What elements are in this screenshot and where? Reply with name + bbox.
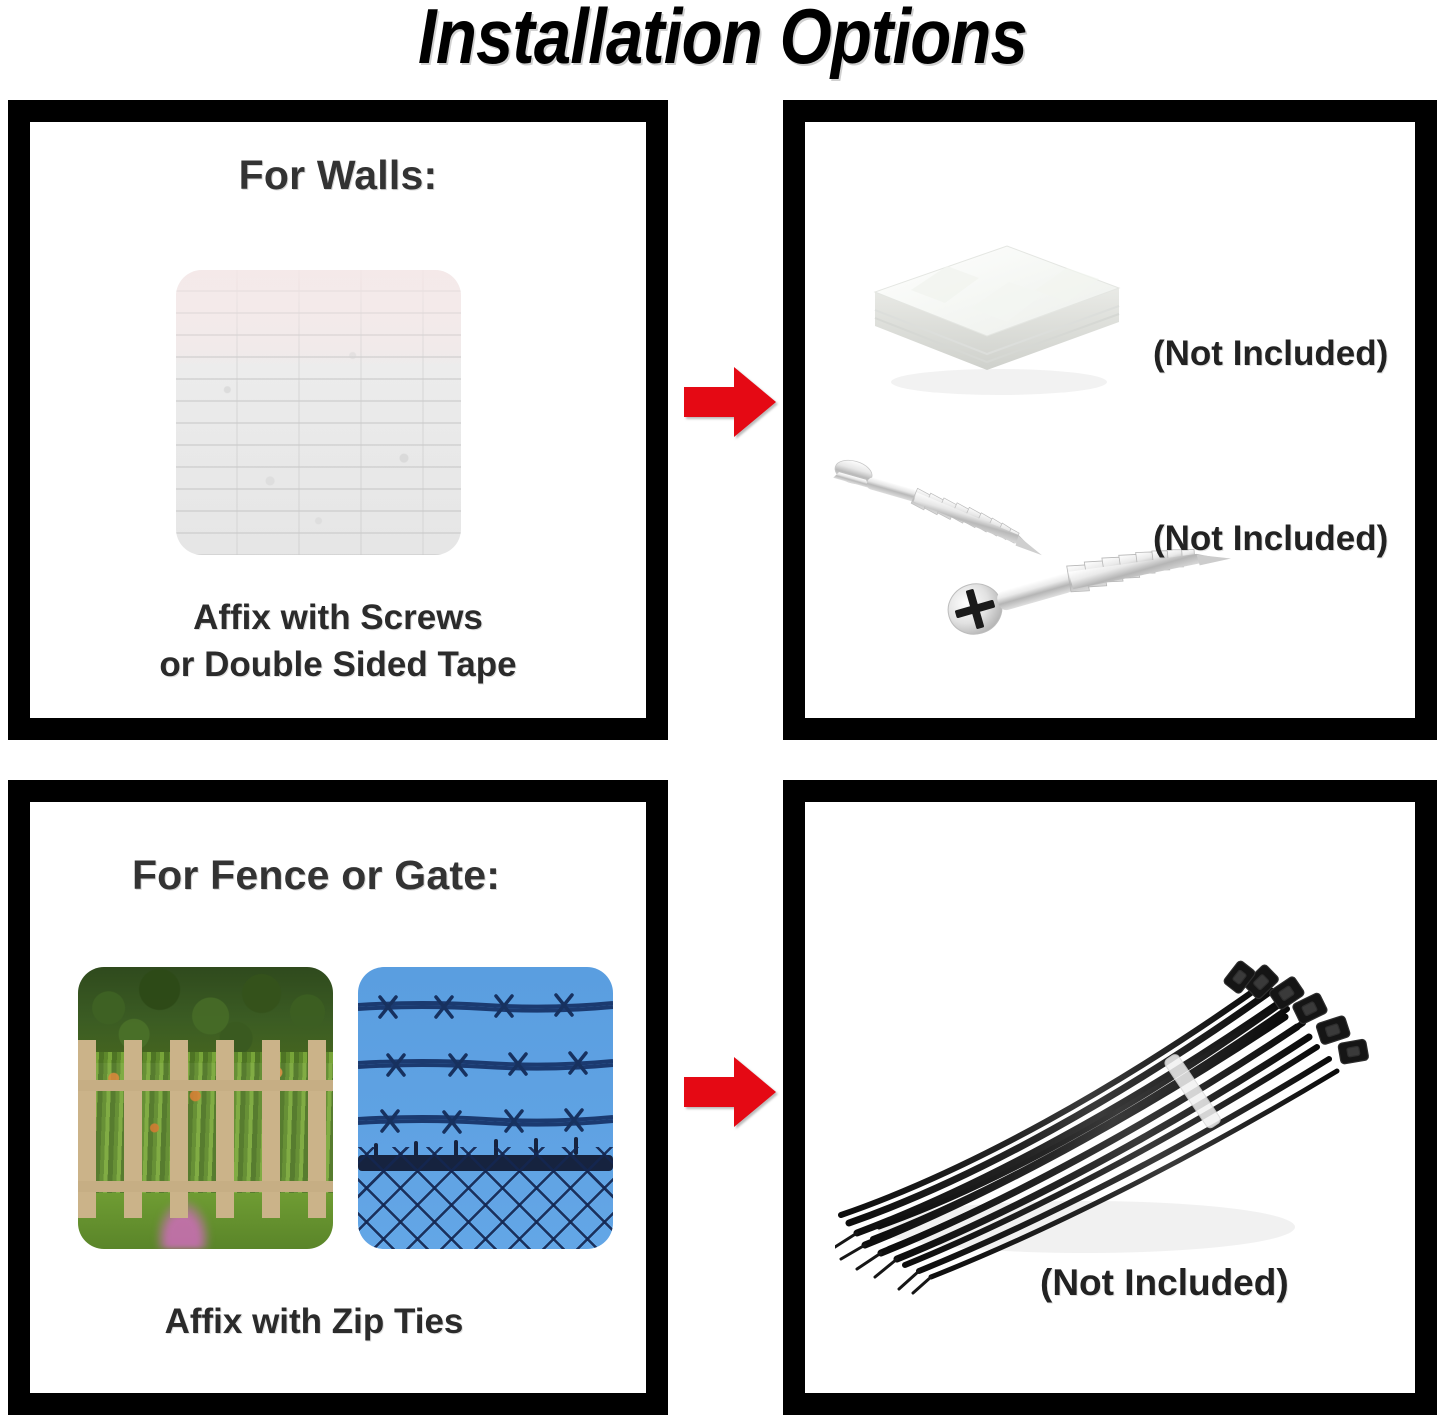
caption-for-walls: Affix with Screws or Double Sided Tape (30, 594, 646, 689)
red-right-arrow-icon-top (684, 365, 776, 439)
tape-stack-svg (867, 230, 1127, 405)
double-sided-tape-stack-image (867, 230, 1127, 405)
picket-rail-upper (78, 1080, 333, 1091)
panel-zip-ties: (Not Included) (783, 780, 1437, 1415)
picket-fence-image (78, 967, 333, 1249)
picket-rail-lower (78, 1181, 333, 1192)
red-right-arrow-icon-bottom (684, 1055, 776, 1129)
heading-for-fence-or-gate: For Fence or Gate: (8, 852, 624, 899)
caption-line-1: Affix with Screws (30, 594, 646, 641)
white-brick-wall-image (176, 270, 461, 555)
panel-for-walls: For Walls: Affix with Screws or Double S… (8, 100, 668, 740)
installation-options-infographic: Installation Options For Walls: Affix wi… (0, 0, 1445, 1422)
panel-wall-hardware: (Not Included) (783, 100, 1437, 740)
arrow-svg (684, 1055, 776, 1129)
arrow-svg (684, 365, 776, 439)
page-title: Installation Options (101, 0, 1344, 78)
panel-for-fence-or-gate: For Fence or Gate: (8, 780, 668, 1415)
barbed-wire-chain-link-image (358, 967, 613, 1249)
caption-line-2: or Double Sided Tape (30, 641, 646, 688)
black-zip-ties-image (835, 897, 1395, 1297)
screws-not-included-label: (Not Included) (1153, 519, 1388, 559)
chain-link-mesh (358, 1147, 613, 1249)
tape-not-included-label: (Not Included) (1153, 334, 1388, 374)
caption-for-fence: Affix with Zip Ties (6, 1298, 622, 1345)
brick-top-tint (176, 270, 461, 367)
heading-for-walls: For Walls: (30, 152, 646, 199)
zip-ties-svg (835, 897, 1395, 1297)
zip-ties-not-included-label: (Not Included) (1040, 1262, 1289, 1304)
